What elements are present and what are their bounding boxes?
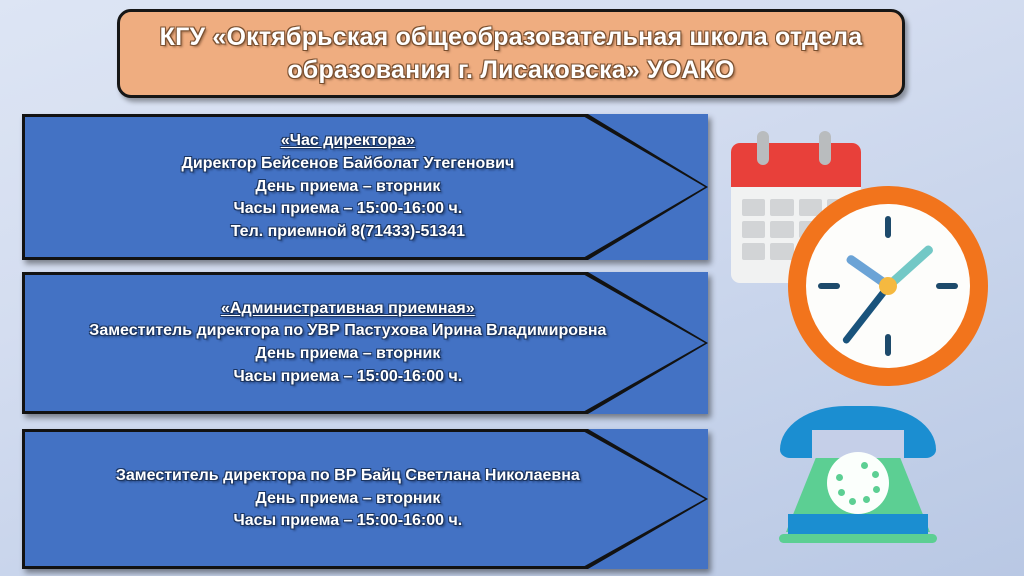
telephone-dial-dot bbox=[836, 474, 843, 481]
arrow-2-line-1: Заместитель директора по УВР Пастухова И… bbox=[22, 320, 674, 343]
arrow-2-heading: «Административная приемная» bbox=[22, 298, 674, 321]
arrow-1-line-2: День приема – вторник bbox=[22, 176, 674, 199]
arrow-1-line-3: Часы приема – 15:00-16:00 ч. bbox=[22, 198, 674, 221]
telephone-dial-dot bbox=[838, 489, 845, 496]
calendar-header bbox=[731, 143, 861, 187]
clock-icon bbox=[788, 186, 988, 386]
arrow-2-line-2: День приема – вторник bbox=[22, 343, 674, 366]
arrow-banner-administrative-reception: «Административная приемная» Заместитель … bbox=[22, 272, 708, 414]
arrow-text-block: «Час директора» Директор Бейсенов Байбол… bbox=[22, 130, 708, 244]
telephone-dial bbox=[827, 452, 889, 514]
calendar-ring-icon bbox=[819, 131, 831, 165]
telephone-dial-dot bbox=[849, 498, 856, 505]
title-banner: КГУ «Октябрьская общеобразовательная шко… bbox=[117, 9, 905, 98]
page-title: КГУ «Октябрьская общеобразовательная шко… bbox=[142, 21, 881, 87]
arrow-1-line-4: Тел. приемной 8(71433)-51341 bbox=[22, 221, 674, 244]
arrow-3-line-1: Заместитель директора по ВР Байц Светлан… bbox=[22, 465, 674, 488]
clock-tick-9 bbox=[818, 283, 840, 289]
arrow-1-heading: «Час директора» bbox=[22, 130, 674, 153]
arrow-3-line-3: Часы приема – 15:00-16:00 ч. bbox=[22, 510, 674, 533]
calendar-clock-icon bbox=[726, 130, 996, 395]
arrow-2-line-3: Часы приема – 15:00-16:00 ч. bbox=[22, 366, 674, 389]
calendar-ring-icon bbox=[757, 131, 769, 165]
arrow-3-line-2: День приема – вторник bbox=[22, 488, 674, 511]
clock-tick-6 bbox=[885, 334, 891, 356]
title-line-2: образования г. Лисаковска» УОАКО bbox=[287, 56, 734, 84]
telephone-dial-dot bbox=[863, 496, 870, 503]
arrow-banner-deputy-director-vr: Заместитель директора по ВР Байц Светлан… bbox=[22, 429, 708, 569]
calendar-day-cell bbox=[742, 199, 765, 216]
arrow-banner-director-hour: «Час директора» Директор Бейсенов Байбол… bbox=[22, 114, 708, 260]
slide-canvas: КГУ «Октябрьская общеобразовательная шко… bbox=[0, 0, 1024, 576]
arrow-1-line-1: Директор Бейсенов Байболат Утегенович bbox=[22, 153, 674, 176]
clock-tick-3 bbox=[936, 283, 958, 289]
telephone-icon bbox=[770, 404, 945, 552]
arrow-text-block: Заместитель директора по ВР Байц Светлан… bbox=[22, 465, 708, 533]
title-line-1: КГУ «Октябрьская общеобразовательная шко… bbox=[160, 23, 863, 51]
telephone-dial-dot bbox=[872, 471, 879, 478]
calendar-day-cell bbox=[742, 221, 765, 238]
calendar-day-cell bbox=[742, 243, 765, 260]
telephone-dial-dot bbox=[873, 486, 880, 493]
telephone-foot bbox=[779, 534, 937, 543]
arrow-text-block: «Административная приемная» Заместитель … bbox=[22, 298, 708, 389]
clock-tick-12 bbox=[885, 216, 891, 238]
clock-center-dot bbox=[879, 277, 897, 295]
telephone-dial-dot bbox=[861, 462, 868, 469]
